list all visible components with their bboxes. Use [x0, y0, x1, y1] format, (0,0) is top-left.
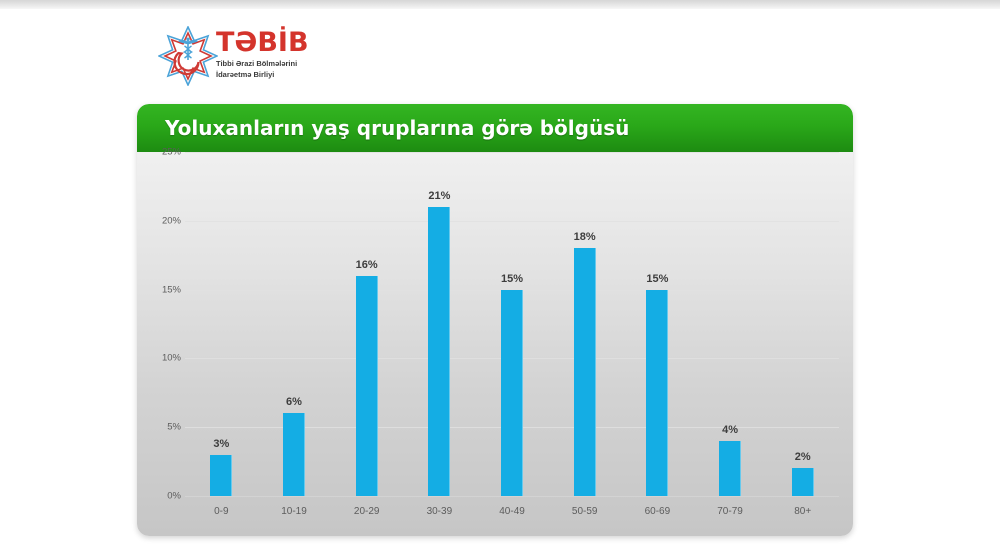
- x-axis-tick-label: 30-39: [403, 500, 476, 524]
- plot-area: 0%5%10%15%20%25% 3%6%16%21%15%18%15%4%2%…: [137, 152, 853, 536]
- bar-value-label: 16%: [356, 259, 378, 271]
- bar-value-label: 4%: [722, 424, 738, 436]
- bar-slot: 6%: [258, 152, 331, 496]
- bar-slot: 3%: [185, 152, 258, 496]
- bar-value-label: 18%: [574, 231, 596, 243]
- bar-value-label: 2%: [795, 451, 811, 463]
- y-axis-tick-label: 20%: [162, 215, 181, 226]
- tabib-logo: TƏBİB Tibbi Ərazi Bölmələrini İdarəetmə …: [158, 26, 318, 88]
- bar-value-label: 21%: [428, 190, 450, 202]
- y-axis: 0%5%10%15%20%25%: [137, 152, 185, 496]
- bar-value-label: 3%: [213, 438, 229, 450]
- bar-value-label: 6%: [286, 396, 302, 408]
- y-axis-tick-label: 25%: [162, 147, 181, 158]
- x-axis-tick-label: 50-59: [548, 500, 621, 524]
- logo-subtitle-line1: Tibbi Ərazi Bölmələrini: [216, 59, 326, 69]
- y-axis-tick-label: 0%: [167, 491, 181, 502]
- x-axis-tick-label: 10-19: [258, 500, 331, 524]
- bar-slot: 16%: [330, 152, 403, 496]
- chart-panel-header: Yoluxanların yaş qruplarına görə bölgüsü: [137, 104, 853, 152]
- bar[interactable]: [283, 413, 305, 496]
- bar-value-label: 15%: [501, 273, 523, 285]
- bar-series: 3%6%16%21%15%18%15%4%2%: [185, 152, 839, 496]
- bar-slot: 2%: [766, 152, 839, 496]
- bar[interactable]: [356, 276, 378, 496]
- page-top-strip: [0, 0, 1000, 9]
- bar[interactable]: [719, 441, 741, 496]
- chart-panel: Yoluxanların yaş qruplarına görə bölgüsü…: [137, 104, 853, 536]
- x-axis-tick-label: 40-49: [476, 500, 549, 524]
- bar[interactable]: [646, 290, 668, 496]
- axis-baseline: [185, 496, 839, 497]
- y-axis-tick-label: 15%: [162, 284, 181, 295]
- bar-slot: 15%: [621, 152, 694, 496]
- x-axis-tick-label: 60-69: [621, 500, 694, 524]
- bar-slot: 4%: [694, 152, 767, 496]
- y-axis-tick-label: 5%: [167, 422, 181, 433]
- tabib-star-caduceus-icon: [158, 26, 218, 86]
- bar[interactable]: [574, 248, 596, 496]
- x-axis-tick-label: 80+: [766, 500, 839, 524]
- logo-subtitle-line2: İdarəetmə Birliyi: [216, 70, 326, 80]
- bar[interactable]: [210, 455, 232, 496]
- bar[interactable]: [428, 207, 450, 496]
- bar[interactable]: [501, 290, 523, 496]
- bar-value-label: 15%: [646, 273, 668, 285]
- logo-text-block: TƏBİB Tibbi Ərazi Bölmələrini İdarəetmə …: [216, 28, 326, 79]
- x-axis-tick-label: 0-9: [185, 500, 258, 524]
- page-title: Yoluxanların yaş qruplarına görə bölgüsü: [165, 116, 629, 140]
- bar-slot: 21%: [403, 152, 476, 496]
- bar-slot: 15%: [476, 152, 549, 496]
- x-axis-tick-label: 70-79: [694, 500, 767, 524]
- y-axis-tick-label: 10%: [162, 353, 181, 364]
- bar[interactable]: [792, 468, 814, 496]
- x-axis: 0-910-1920-2930-3940-4950-5960-6970-7980…: [185, 500, 839, 524]
- logo-wordmark: TƏBİB: [216, 28, 326, 58]
- bar-slot: 18%: [548, 152, 621, 496]
- x-axis-tick-label: 20-29: [330, 500, 403, 524]
